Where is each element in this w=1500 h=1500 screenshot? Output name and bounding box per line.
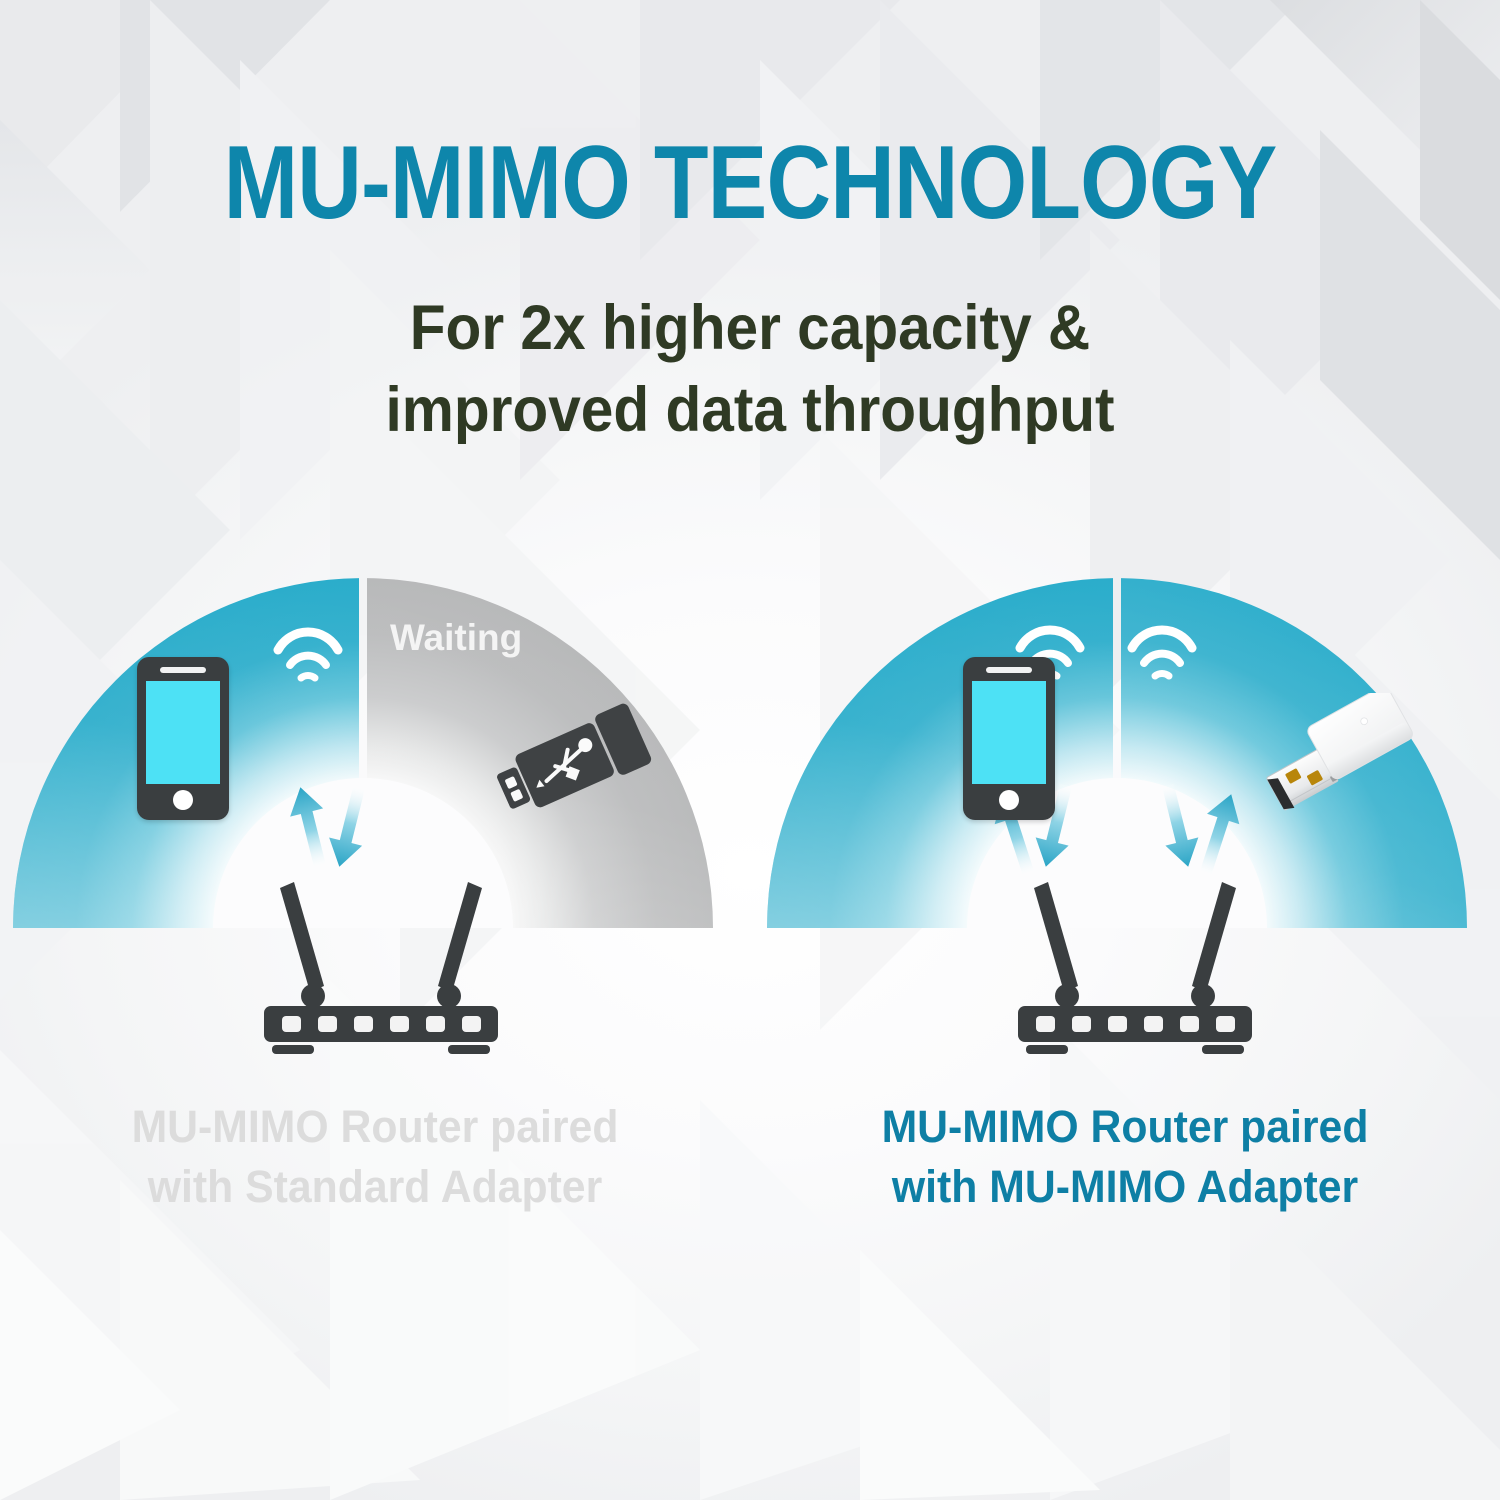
smartphone-icon [963,657,1055,820]
wifi-router-icon [1010,868,1260,1058]
waiting-label: Waiting [390,617,522,658]
wifi-router-icon [256,868,506,1058]
phone-home-button [173,790,193,810]
subtitle-line-1: For 2x higher capacity & [53,288,1448,370]
usb-wifi-adapter-icon [1260,693,1428,813]
phone-screen [146,681,220,784]
caption-mumimo-adapter: MU-MIMO Router paired with MU-MIMO Adapt… [769,1097,1482,1218]
phone-screen [972,681,1046,784]
subtitle-line-2: improved data throughput [53,370,1448,452]
caption-line-1: MU-MIMO Router paired [769,1097,1482,1157]
phone-home-button [999,790,1019,810]
page-subtitle: For 2x higher capacity & improved data t… [53,288,1448,452]
caption-line-2: with Standard Adapter [19,1157,732,1217]
phone-speaker [160,667,206,673]
caption-line-1: MU-MIMO Router paired [19,1097,732,1157]
smartphone-icon [137,657,229,820]
caption-standard-adapter: MU-MIMO Router paired with Standard Adap… [19,1097,732,1218]
infographic-canvas: MU-MIMO TECHNOLOGY For 2x higher capacit… [0,0,1500,1500]
caption-line-2: with MU-MIMO Adapter [769,1157,1482,1217]
phone-speaker [986,667,1032,673]
page-title: MU-MIMO TECHNOLOGY [105,131,1395,235]
